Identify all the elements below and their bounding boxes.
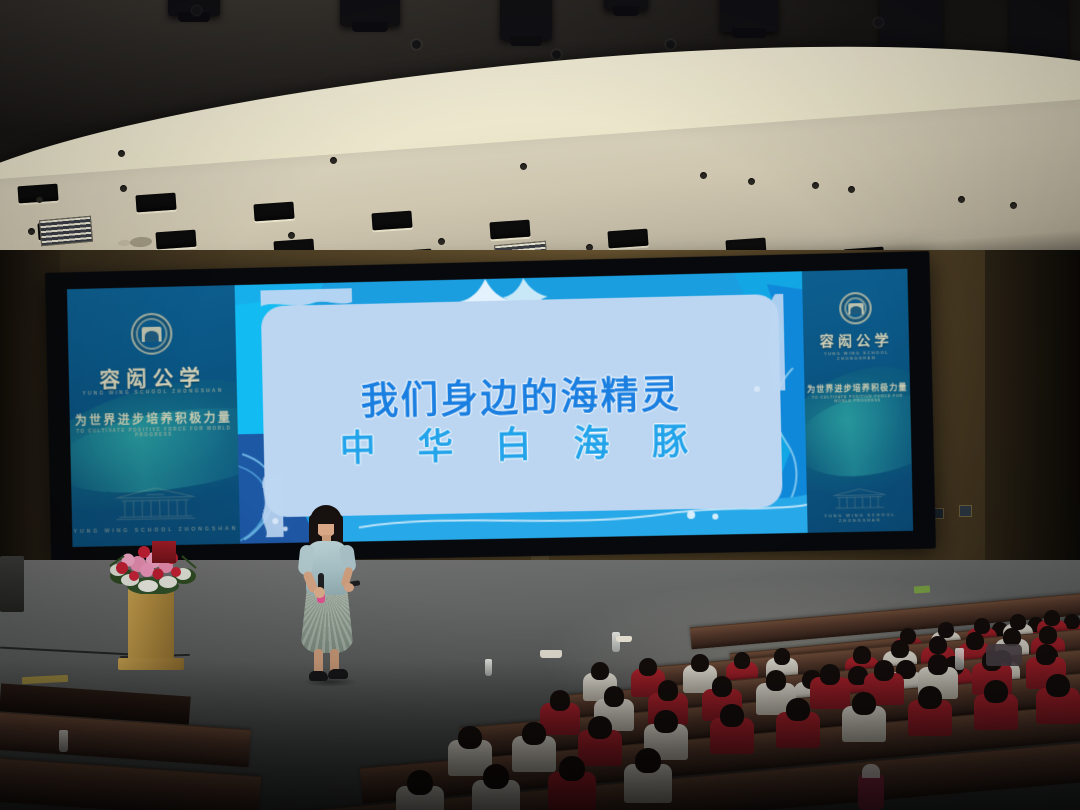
audience-member-head <box>966 632 984 650</box>
podium-sign <box>152 541 176 563</box>
audience-member-head <box>658 680 679 701</box>
audience-member-head <box>458 726 481 749</box>
ceiling-rigging-point-icon <box>874 18 883 27</box>
ceiling-downlight-icon <box>489 220 530 240</box>
audience-member-head <box>550 690 571 711</box>
auditorium-photo: 容闳公学 YUNG WING SCHOOL ZHONGSHAN 为世界进步培养积… <box>0 0 1080 810</box>
presenter-speaker <box>296 505 358 683</box>
audience-member-head <box>852 692 875 715</box>
paper-sheet <box>540 650 562 658</box>
ceiling-rigging-point-icon <box>192 6 201 15</box>
audience-member-head <box>522 722 545 745</box>
audience-member-head <box>483 764 508 789</box>
led-screen-surface: 容闳公学 YUNG WING SCHOOL ZHONGSHAN 为世界进步培养积… <box>67 269 913 547</box>
school-building-icon <box>830 487 889 510</box>
stage-light-fixture-icon <box>500 0 552 40</box>
audience-member-head <box>1044 610 1060 626</box>
lectern-base <box>118 658 184 670</box>
audience-member-head <box>734 652 751 669</box>
audience-member-head <box>591 662 609 680</box>
audience-member-head <box>928 654 949 675</box>
stage-light-fixture-icon <box>340 0 400 26</box>
audience-member-head <box>984 680 1007 703</box>
ceiling-downlight-icon <box>253 202 294 222</box>
ceiling-downlight-icon <box>607 229 648 249</box>
audience-member-head <box>588 716 611 739</box>
school-motto-zh: 为世界进步培养积极力量 <box>804 382 910 395</box>
presenter-hand <box>314 587 325 598</box>
audience-member-head <box>820 664 841 685</box>
school-name-zh: 容闳公学 <box>803 329 909 352</box>
mic-stand <box>0 556 24 612</box>
water-bottle <box>612 632 620 652</box>
ceiling-downlight-icon <box>155 230 196 250</box>
audience-member-head <box>786 698 809 721</box>
slide-content-card: 我们身边的海精灵 中 华 白 海 豚 <box>261 294 783 517</box>
audience-member-head <box>720 704 743 727</box>
audience-member-head <box>1003 628 1021 646</box>
school-crest-icon <box>130 312 172 355</box>
water-bottle <box>59 730 68 752</box>
audience-member-head <box>407 770 432 795</box>
audience-member-head <box>1036 644 1057 665</box>
ceiling-rigging-point-icon <box>412 40 421 49</box>
presenter-shoe <box>309 671 328 681</box>
led-screen: 容闳公学 YUNG WING SCHOOL ZHONGSHAN 为世界进步培养积… <box>45 251 936 565</box>
presenter-shoe <box>328 669 348 679</box>
slide-title-line-2: 中 华 白 海 豚 <box>263 411 782 474</box>
hvac-vent-icon <box>39 216 93 246</box>
flask-handle <box>862 764 880 778</box>
stage-light-fixture-icon <box>604 0 648 10</box>
water-flask <box>858 774 884 810</box>
wall-socket-plate <box>959 505 972 517</box>
audience-member-head <box>604 686 625 707</box>
school-footer-en: YUNG WING SCHOOL ZHONGSHAN <box>807 512 913 524</box>
ceiling-downlight-icon <box>371 211 412 231</box>
ceiling-rigging-point-icon <box>552 50 561 59</box>
audience-member-head <box>774 648 791 665</box>
audience-member-head <box>1046 674 1069 697</box>
audience-member-head <box>654 710 677 733</box>
presentation-slide: 我们身边的海精灵 中 华 白 海 豚 <box>235 271 808 544</box>
audience-member-head <box>766 670 787 691</box>
school-crest-icon <box>839 292 872 325</box>
stage-light-fixture-icon <box>720 0 778 32</box>
audience-member-head <box>559 756 584 781</box>
audience-member-head <box>635 748 660 773</box>
school-name-en: YUNG WING SCHOOL ZHONGSHAN <box>804 349 910 361</box>
audience-member-head <box>691 654 709 672</box>
audience-member-head <box>1039 626 1057 644</box>
audience-member-head <box>712 676 733 697</box>
backpack <box>986 644 1022 666</box>
water-bottle <box>485 659 492 676</box>
floor-tape-mark <box>914 585 930 593</box>
lectern <box>128 586 174 662</box>
screen-right-banner: 容闳公学 YUNG WING SCHOOL ZHONGSHAN 为世界进步培养积… <box>802 269 913 533</box>
water-bottle <box>955 648 964 670</box>
school-footer-en: YUNG WING SCHOOL ZHONGSHAN <box>72 526 240 535</box>
audience-member-head <box>918 686 941 709</box>
audience-member-head <box>891 640 909 658</box>
school-building-icon <box>111 485 200 521</box>
audience-member-head <box>929 636 947 654</box>
audience-member-head <box>874 660 895 681</box>
ceiling-downlight-icon <box>135 193 176 213</box>
stage-light-fixture-icon <box>880 0 942 52</box>
audience-member-head <box>853 646 871 664</box>
screen-left-banner: 容闳公学 YUNG WING SCHOOL ZHONGSHAN 为世界进步培养积… <box>67 285 240 547</box>
stage-light-fixture-icon <box>1010 0 1068 58</box>
ceiling-rigging-point-icon <box>666 40 675 49</box>
presenter-skirt <box>300 591 354 653</box>
presenter-hand <box>344 583 354 592</box>
audience-member-head <box>639 658 657 676</box>
paper-sheet <box>616 636 632 642</box>
